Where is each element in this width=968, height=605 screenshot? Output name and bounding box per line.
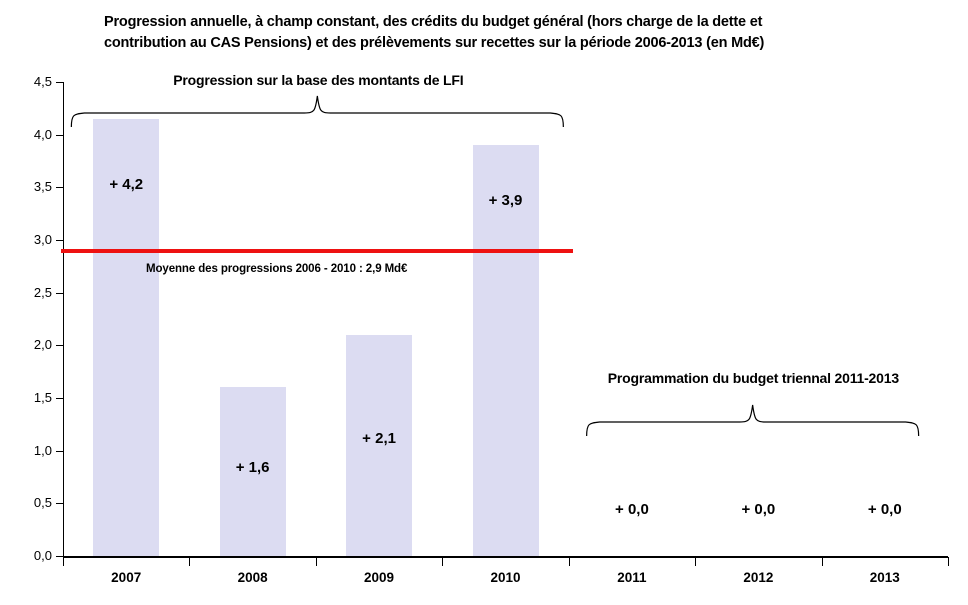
x-axis-label-2011: 2011 <box>572 570 692 586</box>
y-axis-tick <box>56 293 64 294</box>
y-axis-tick <box>56 187 64 188</box>
bar-value-label-2010: + 3,9 <box>446 192 566 209</box>
chart-title: Progression annuelle, à champ constant, … <box>104 12 894 54</box>
x-axis-label-2012: 2012 <box>698 570 818 586</box>
x-axis-end-tick <box>948 557 949 566</box>
bar-value-label-2012: + 0,0 <box>698 501 818 518</box>
x-axis-label-2013: 2013 <box>825 570 945 586</box>
bar-value-label-2009: + 2,1 <box>319 430 439 447</box>
y-axis-tick <box>56 451 64 452</box>
y-axis-tick-label: 3,0 <box>0 233 52 246</box>
average-reference-line <box>61 249 573 253</box>
y-axis-tick-label: 1,0 <box>0 444 52 457</box>
x-axis-end-tick <box>63 557 64 566</box>
x-axis-label-2009: 2009 <box>319 570 439 586</box>
x-axis-label-2008: 2008 <box>193 570 313 586</box>
y-axis-tick-label: 0,0 <box>0 549 52 562</box>
x-axis-line <box>63 556 948 558</box>
y-axis-tick-label: 1,5 <box>0 391 52 404</box>
y-axis-tick-label: 3,5 <box>0 180 52 193</box>
average-reference-label: Moyenne des progressions 2006 - 2010 : 2… <box>146 263 407 275</box>
bar-value-label-2011: + 0,0 <box>572 501 692 518</box>
x-axis-separator <box>316 557 317 566</box>
x-axis-separator <box>442 557 443 566</box>
y-axis-tick-label: 2,5 <box>0 286 52 299</box>
x-axis-separator <box>189 557 190 566</box>
brace-lfi-icon <box>66 93 571 129</box>
x-axis-label-2007: 2007 <box>66 570 186 586</box>
brace-triennal-icon <box>579 402 928 438</box>
y-axis-tick-label: 0,5 <box>0 496 52 509</box>
y-axis-line <box>63 82 64 557</box>
x-axis-separator <box>695 557 696 566</box>
annotation-label-lfi: Progression sur la base des montants de … <box>6 72 631 88</box>
bar-value-label-2007: + 4,2 <box>66 176 186 193</box>
x-axis-separator <box>569 557 570 566</box>
y-axis-tick-label: 2,0 <box>0 338 52 351</box>
y-axis-tick-label: 4,0 <box>0 128 52 141</box>
y-axis-tick <box>56 345 64 346</box>
y-axis-tick <box>56 240 64 241</box>
x-axis-label-2010: 2010 <box>446 570 566 586</box>
annotation-label-triennal: Programmation du budget triennal 2011-20… <box>519 370 968 386</box>
y-axis-tick <box>56 135 64 136</box>
y-axis-tick <box>56 398 64 399</box>
y-axis-tick <box>56 503 64 504</box>
chart-container: Progression annuelle, à champ constant, … <box>0 0 968 605</box>
bar-value-label-2008: + 1,6 <box>193 459 313 476</box>
bar-value-label-2013: + 0,0 <box>825 501 945 518</box>
x-axis-separator <box>822 557 823 566</box>
